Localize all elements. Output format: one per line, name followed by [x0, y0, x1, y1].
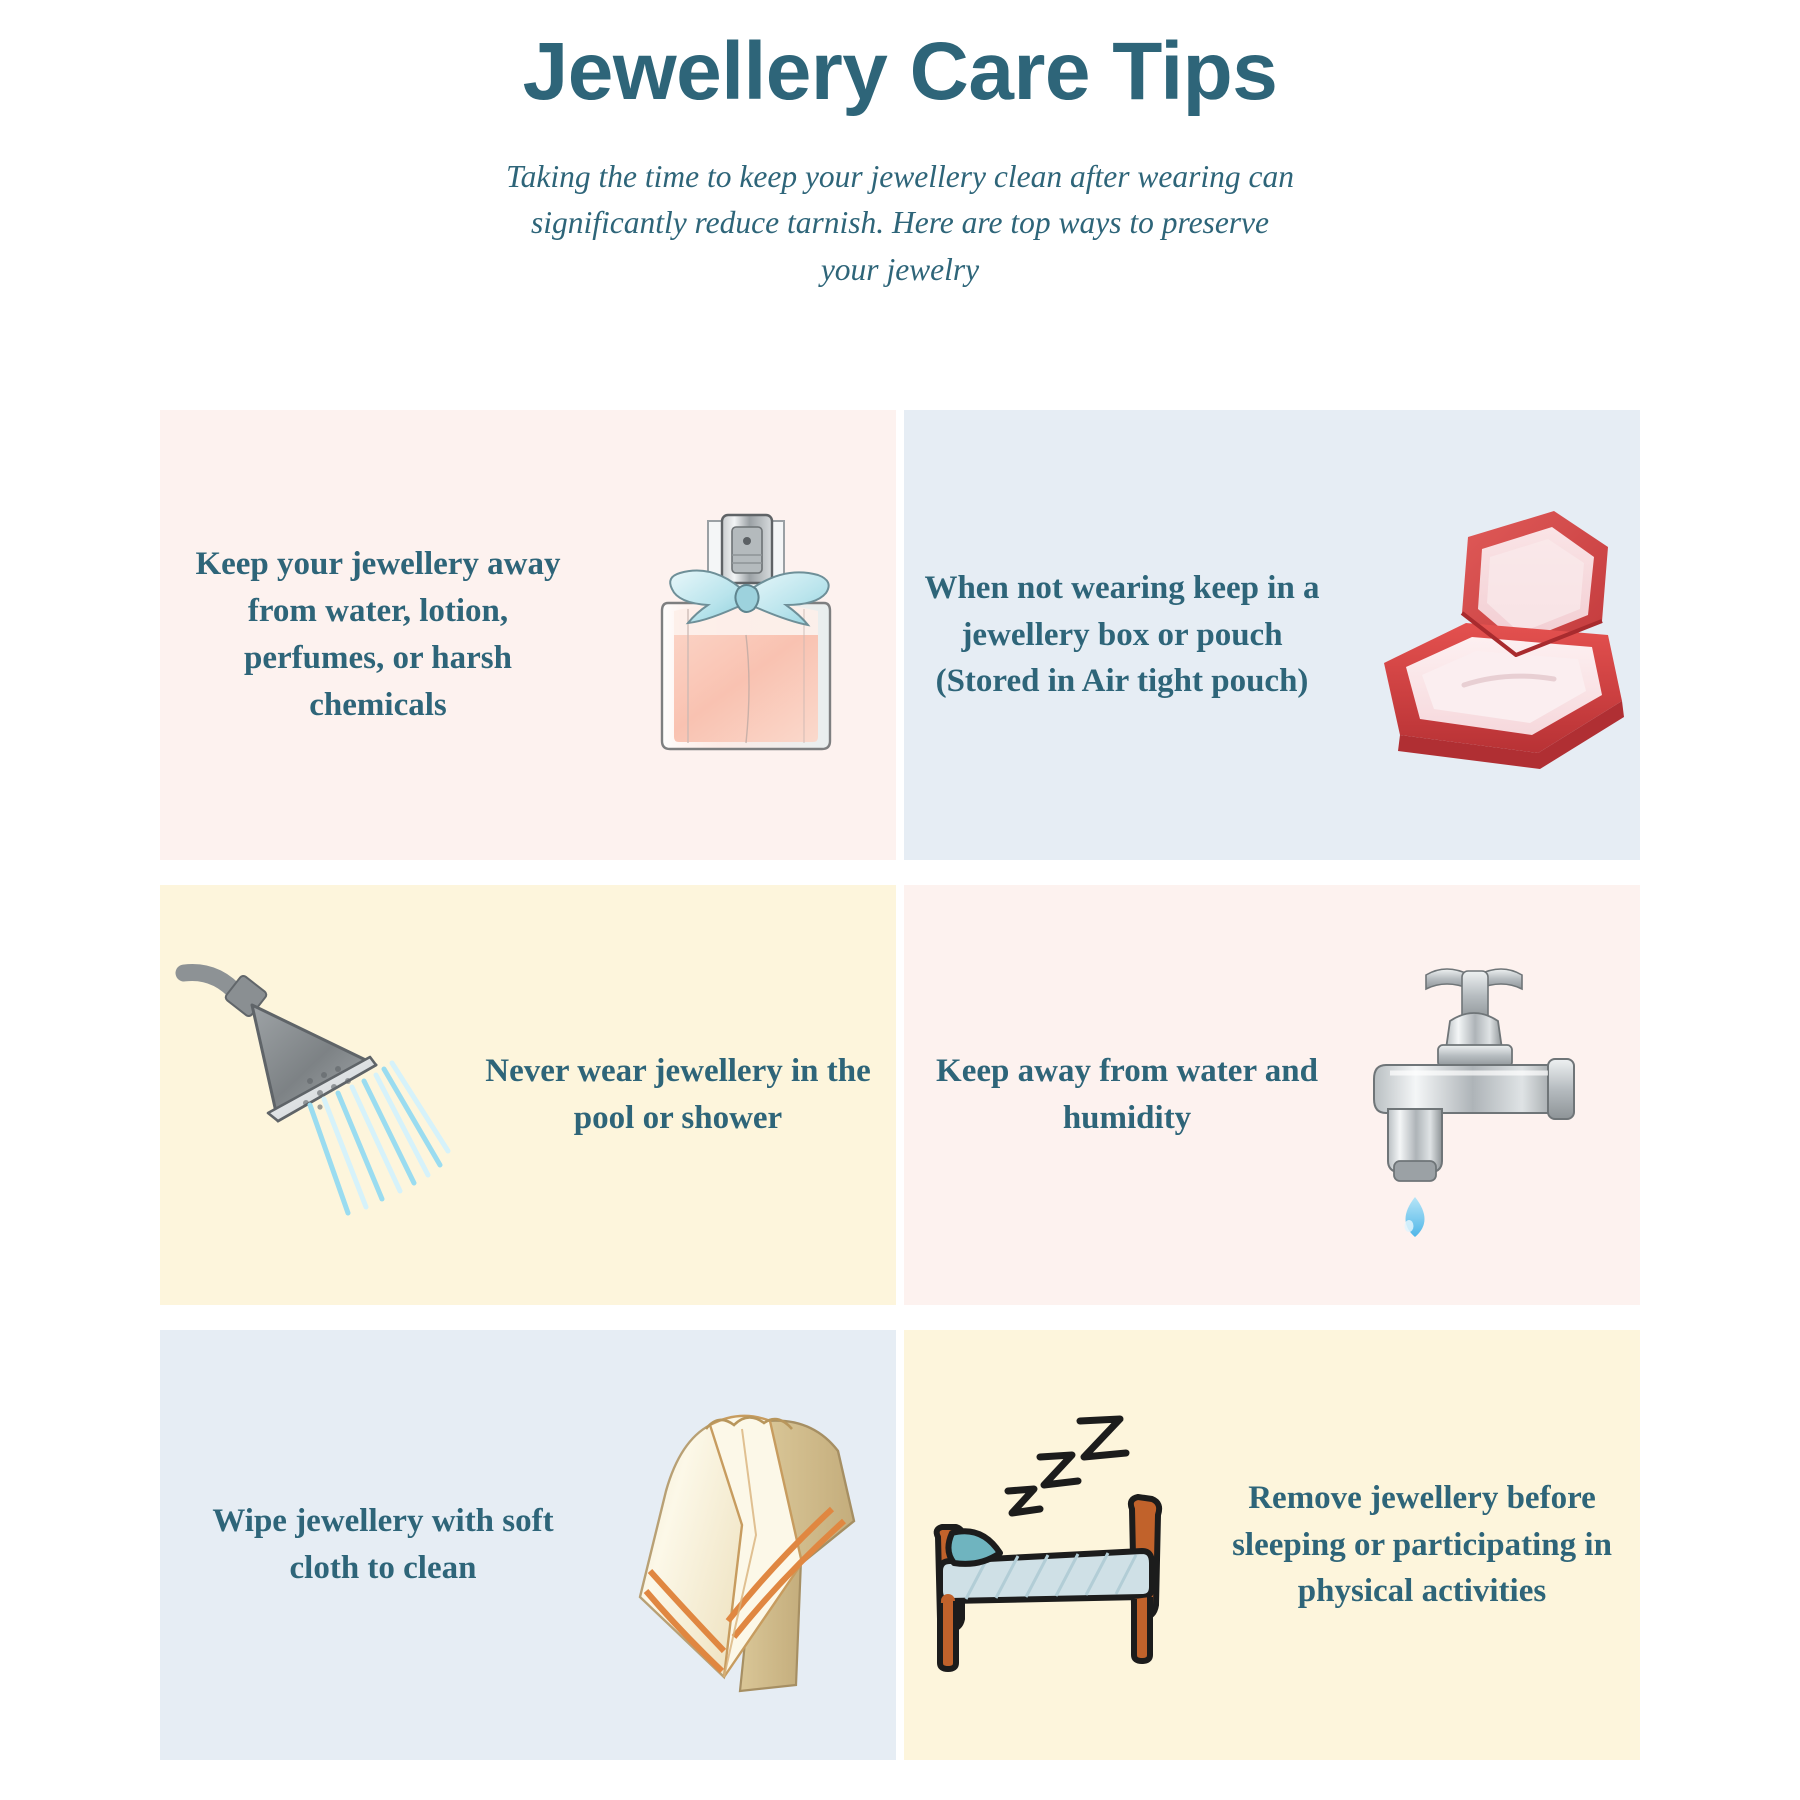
card-chemicals: Keep your jewellery away from water, lot… — [160, 410, 896, 860]
card-sleep-text: Remove jewellery before sleeping or part… — [1204, 1475, 1640, 1616]
cloth-icon — [606, 1385, 896, 1705]
card-sleep: Remove jewellery before sleeping or part… — [904, 1330, 1640, 1760]
header: Jewellery Care Tips Taking the time to k… — [0, 0, 1800, 294]
card-shower-text: Never wear jewellery in the pool or show… — [460, 1048, 896, 1142]
tips-grid: Keep your jewellery away from water, lot… — [160, 410, 1640, 1760]
card-wipe: Wipe jewellery with soft cloth to clean — [160, 1330, 896, 1760]
bed-icon — [904, 1405, 1204, 1685]
card-storage: When not wearing keep in a jewellery box… — [904, 410, 1640, 860]
card-storage-text: When not wearing keep in a jewellery box… — [904, 565, 1340, 706]
ring-box-icon — [1340, 495, 1640, 775]
page-subtitle: Taking the time to keep your jewellery c… — [505, 154, 1295, 294]
card-shower: Never wear jewellery in the pool or show… — [160, 885, 896, 1305]
card-humidity-text: Keep away from water and humidity — [904, 1048, 1350, 1142]
faucet-icon — [1350, 945, 1640, 1245]
shower-head-icon — [160, 945, 460, 1245]
card-humidity: Keep away from water and humidity — [904, 885, 1640, 1305]
card-wipe-text: Wipe jewellery with soft cloth to clean — [160, 1498, 606, 1592]
card-chemicals-text: Keep your jewellery away from water, lot… — [160, 541, 596, 728]
perfume-bottle-icon — [596, 485, 896, 785]
page-title: Jewellery Care Tips — [0, 26, 1800, 118]
infographic-page: Jewellery Care Tips Taking the time to k… — [0, 0, 1800, 1800]
